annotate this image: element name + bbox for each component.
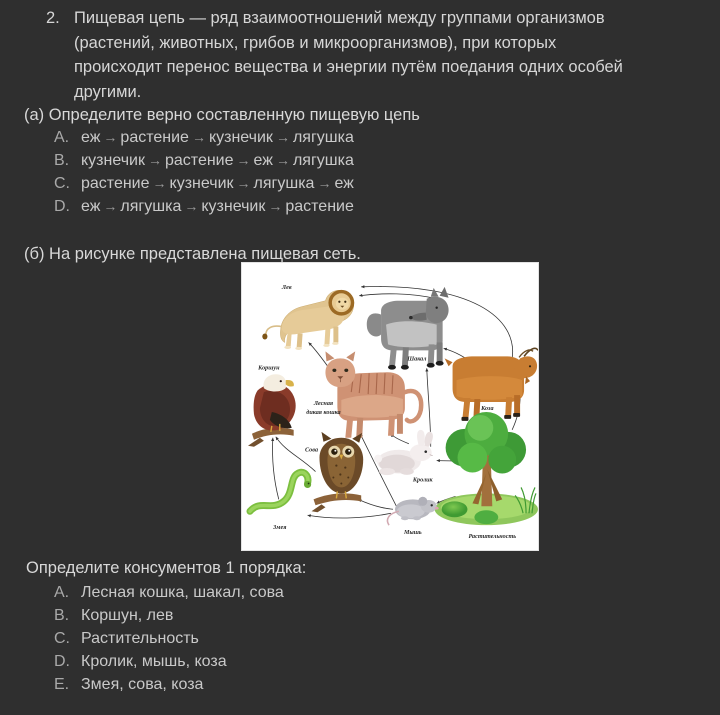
question-2-row: 2. Пищевая цепь — ряд взаимоотношений ме… <box>0 6 720 104</box>
option-text: еж→растение→кузнечик→лягушка <box>81 126 354 149</box>
chain-item: лягушка <box>293 152 354 169</box>
arrow-icon: → <box>234 152 254 168</box>
arrow-icon: → <box>181 198 201 214</box>
question-page: 2. Пищевая цепь — ряд взаимоотношений ме… <box>0 0 720 715</box>
option-b[interactable]: B. Коршун, лев <box>54 604 284 627</box>
option-a[interactable]: A. еж→растение→кузнечик→лягушка <box>54 126 354 149</box>
chain-item: кузнечик <box>201 198 265 215</box>
option-a[interactable]: A. Лесная кошка, шакал, сова <box>54 581 284 604</box>
option-text: Растительность <box>81 627 199 650</box>
part-c-prompt: Определите консументов 1 порядка: <box>26 557 306 579</box>
label-vegetation: Растительность <box>469 534 517 540</box>
chain-item: еж <box>254 152 273 169</box>
option-letter: B. <box>54 604 81 627</box>
option-d[interactable]: D. Кролик, мышь, коза <box>54 650 284 673</box>
question-line-4: другими. <box>74 80 623 105</box>
food-web-diagram: Лев <box>241 262 539 551</box>
option-text: растение→кузнечик→лягушка→еж <box>81 172 354 195</box>
arrow-icon: → <box>273 152 293 168</box>
option-letter: D. <box>54 650 81 673</box>
option-d[interactable]: D. еж→лягушка→кузнечик→растение <box>54 195 354 218</box>
chain-item: растение <box>120 129 189 146</box>
question-number: 2. <box>46 6 74 31</box>
chain-item: еж <box>334 175 353 192</box>
chain-item: растение <box>165 152 234 169</box>
part-c-options: A. Лесная кошка, шакал, сова B. Коршун, … <box>54 581 284 696</box>
label-lion: Лев <box>281 285 292 291</box>
label-wildcat-line1: Лесная <box>313 401 333 407</box>
arrow-icon: → <box>265 198 285 214</box>
part-a-prompt: (а) Определите верно составленную пищеву… <box>24 104 420 126</box>
chain-item: лягушка <box>120 198 181 215</box>
label-mouse: Мышь <box>403 530 422 536</box>
option-letter: A. <box>54 581 81 604</box>
option-letter: E. <box>54 673 81 696</box>
option-letter: D. <box>54 195 81 218</box>
chain-item: кузнечик <box>209 129 273 146</box>
arrow-icon: → <box>150 175 170 191</box>
chain-item: кузнечик <box>170 175 234 192</box>
chain-item: еж <box>81 198 100 215</box>
arrow-icon: → <box>234 175 254 191</box>
chain-item: еж <box>81 129 100 146</box>
option-text: Кролик, мышь, коза <box>81 650 227 673</box>
chain-item: лягушка <box>254 175 315 192</box>
option-c[interactable]: C. Растительность <box>54 627 284 650</box>
option-text: Змея, сова, коза <box>81 673 203 696</box>
question-line-2: (растений, животных, грибов и микроорган… <box>74 31 623 56</box>
option-b[interactable]: B. кузнечик→растение→еж→лягушка <box>54 149 354 172</box>
label-goat: Коза <box>480 406 493 412</box>
arrow-icon: → <box>273 129 293 145</box>
question-text: Пищевая цепь — ряд взаимоотношений между… <box>74 6 623 104</box>
arrow-icon: → <box>100 198 120 214</box>
option-e[interactable]: E. Змея, сова, коза <box>54 673 284 696</box>
option-text: кузнечик→растение→еж→лягушка <box>81 149 354 172</box>
chain-item: кузнечик <box>81 152 145 169</box>
option-letter: C. <box>54 172 81 195</box>
arrow-icon: → <box>314 175 334 191</box>
option-c[interactable]: C. растение→кузнечик→лягушка→еж <box>54 172 354 195</box>
chain-item: лягушка <box>293 129 354 146</box>
option-text: еж→лягушка→кузнечик→растение <box>81 195 354 218</box>
option-text: Коршун, лев <box>81 604 173 627</box>
label-snake: Змея <box>272 525 286 531</box>
option-letter: C. <box>54 627 81 650</box>
arrow-icon: → <box>189 129 209 145</box>
chain-item: растение <box>285 198 354 215</box>
arrow-icon: → <box>145 152 165 168</box>
option-text: Лесная кошка, шакал, сова <box>81 581 284 604</box>
question-2-block: 2. Пищевая цепь — ряд взаимоотношений ме… <box>0 0 720 104</box>
label-owl: Сова <box>305 448 318 454</box>
label-wildcat-line2: дикая кошка <box>306 409 340 416</box>
option-letter: A. <box>54 126 81 149</box>
label-rabbit: Кролик <box>412 477 434 483</box>
label-jackal: Шакал <box>406 356 426 362</box>
arrow-icon: → <box>100 129 120 145</box>
option-letter: B. <box>54 149 81 172</box>
chain-item: растение <box>81 175 150 192</box>
question-line-3: происходит перенос вещества и энергии пу… <box>74 55 623 80</box>
label-kite: Коршун <box>257 365 280 371</box>
question-line-1: Пищевая цепь — ряд взаимоотношений между… <box>74 9 605 27</box>
part-a-options: A. еж→растение→кузнечик→лягушка B. кузне… <box>54 126 354 218</box>
